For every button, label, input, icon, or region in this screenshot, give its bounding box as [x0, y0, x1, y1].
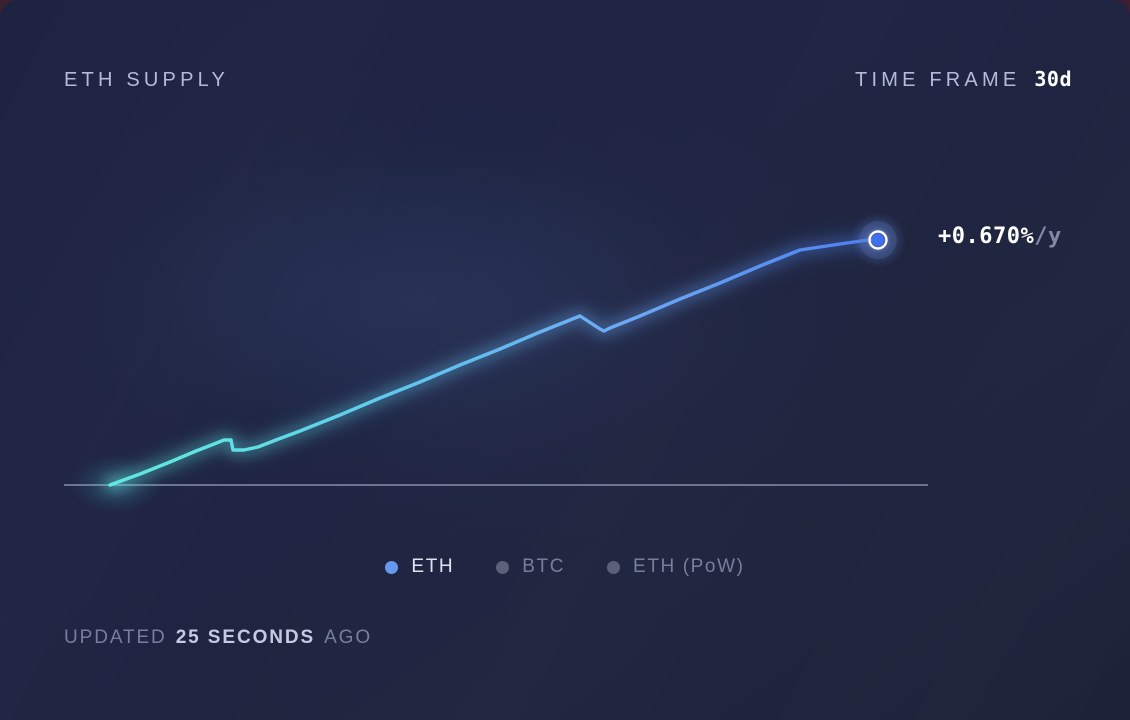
legend-dot-icon [607, 561, 620, 574]
last-updated-status: UPDATED 25 SECONDS AGO [64, 627, 372, 649]
marker-halo-inner [866, 228, 891, 253]
end-value-number: +0.670% [938, 224, 1034, 249]
updated-suffix: AGO [324, 627, 372, 649]
marker-dot [872, 234, 884, 246]
page-title: ETH SUPPLY [64, 69, 229, 92]
updated-value: 25 SECONDS [176, 627, 315, 649]
eth-series-glow [110, 240, 878, 485]
supply-chart [0, 0, 1130, 720]
background-sheen [0, 0, 1130, 720]
legend-label: BTC [522, 556, 565, 578]
legend-item-eth[interactable]: ETH [385, 556, 454, 578]
end-value-unit: /y [1034, 224, 1062, 249]
eth-supply-card: ETH SUPPLY TIME FRAME 30d [0, 0, 1130, 720]
chart-legend: ETH BTC ETH (PoW) [0, 556, 1130, 578]
legend-label: ETH [411, 556, 454, 578]
card-header: ETH SUPPLY TIME FRAME 30d [64, 67, 1072, 99]
timeframe-label: TIME FRAME [855, 69, 1020, 92]
origin-glow [70, 454, 162, 514]
chart-svg [0, 0, 1130, 720]
marker-ring [870, 232, 887, 249]
legend-dot-icon [385, 561, 398, 574]
updated-prefix: UPDATED [64, 627, 167, 649]
marker-halo-outer [850, 212, 906, 268]
legend-item-btc[interactable]: BTC [496, 556, 565, 578]
legend-label: ETH (PoW) [633, 556, 745, 578]
marker-halo-mid [859, 221, 897, 259]
end-value-label: +0.670% /y [938, 224, 1062, 249]
legend-item-eth-pow[interactable]: ETH (PoW) [607, 556, 745, 578]
eth-series-line[interactable] [110, 240, 878, 485]
timeframe-value[interactable]: 30d [1034, 67, 1072, 91]
timeframe-control[interactable]: TIME FRAME 30d [855, 67, 1072, 92]
endpoint-marker[interactable] [850, 212, 906, 268]
legend-dot-icon [496, 561, 509, 574]
